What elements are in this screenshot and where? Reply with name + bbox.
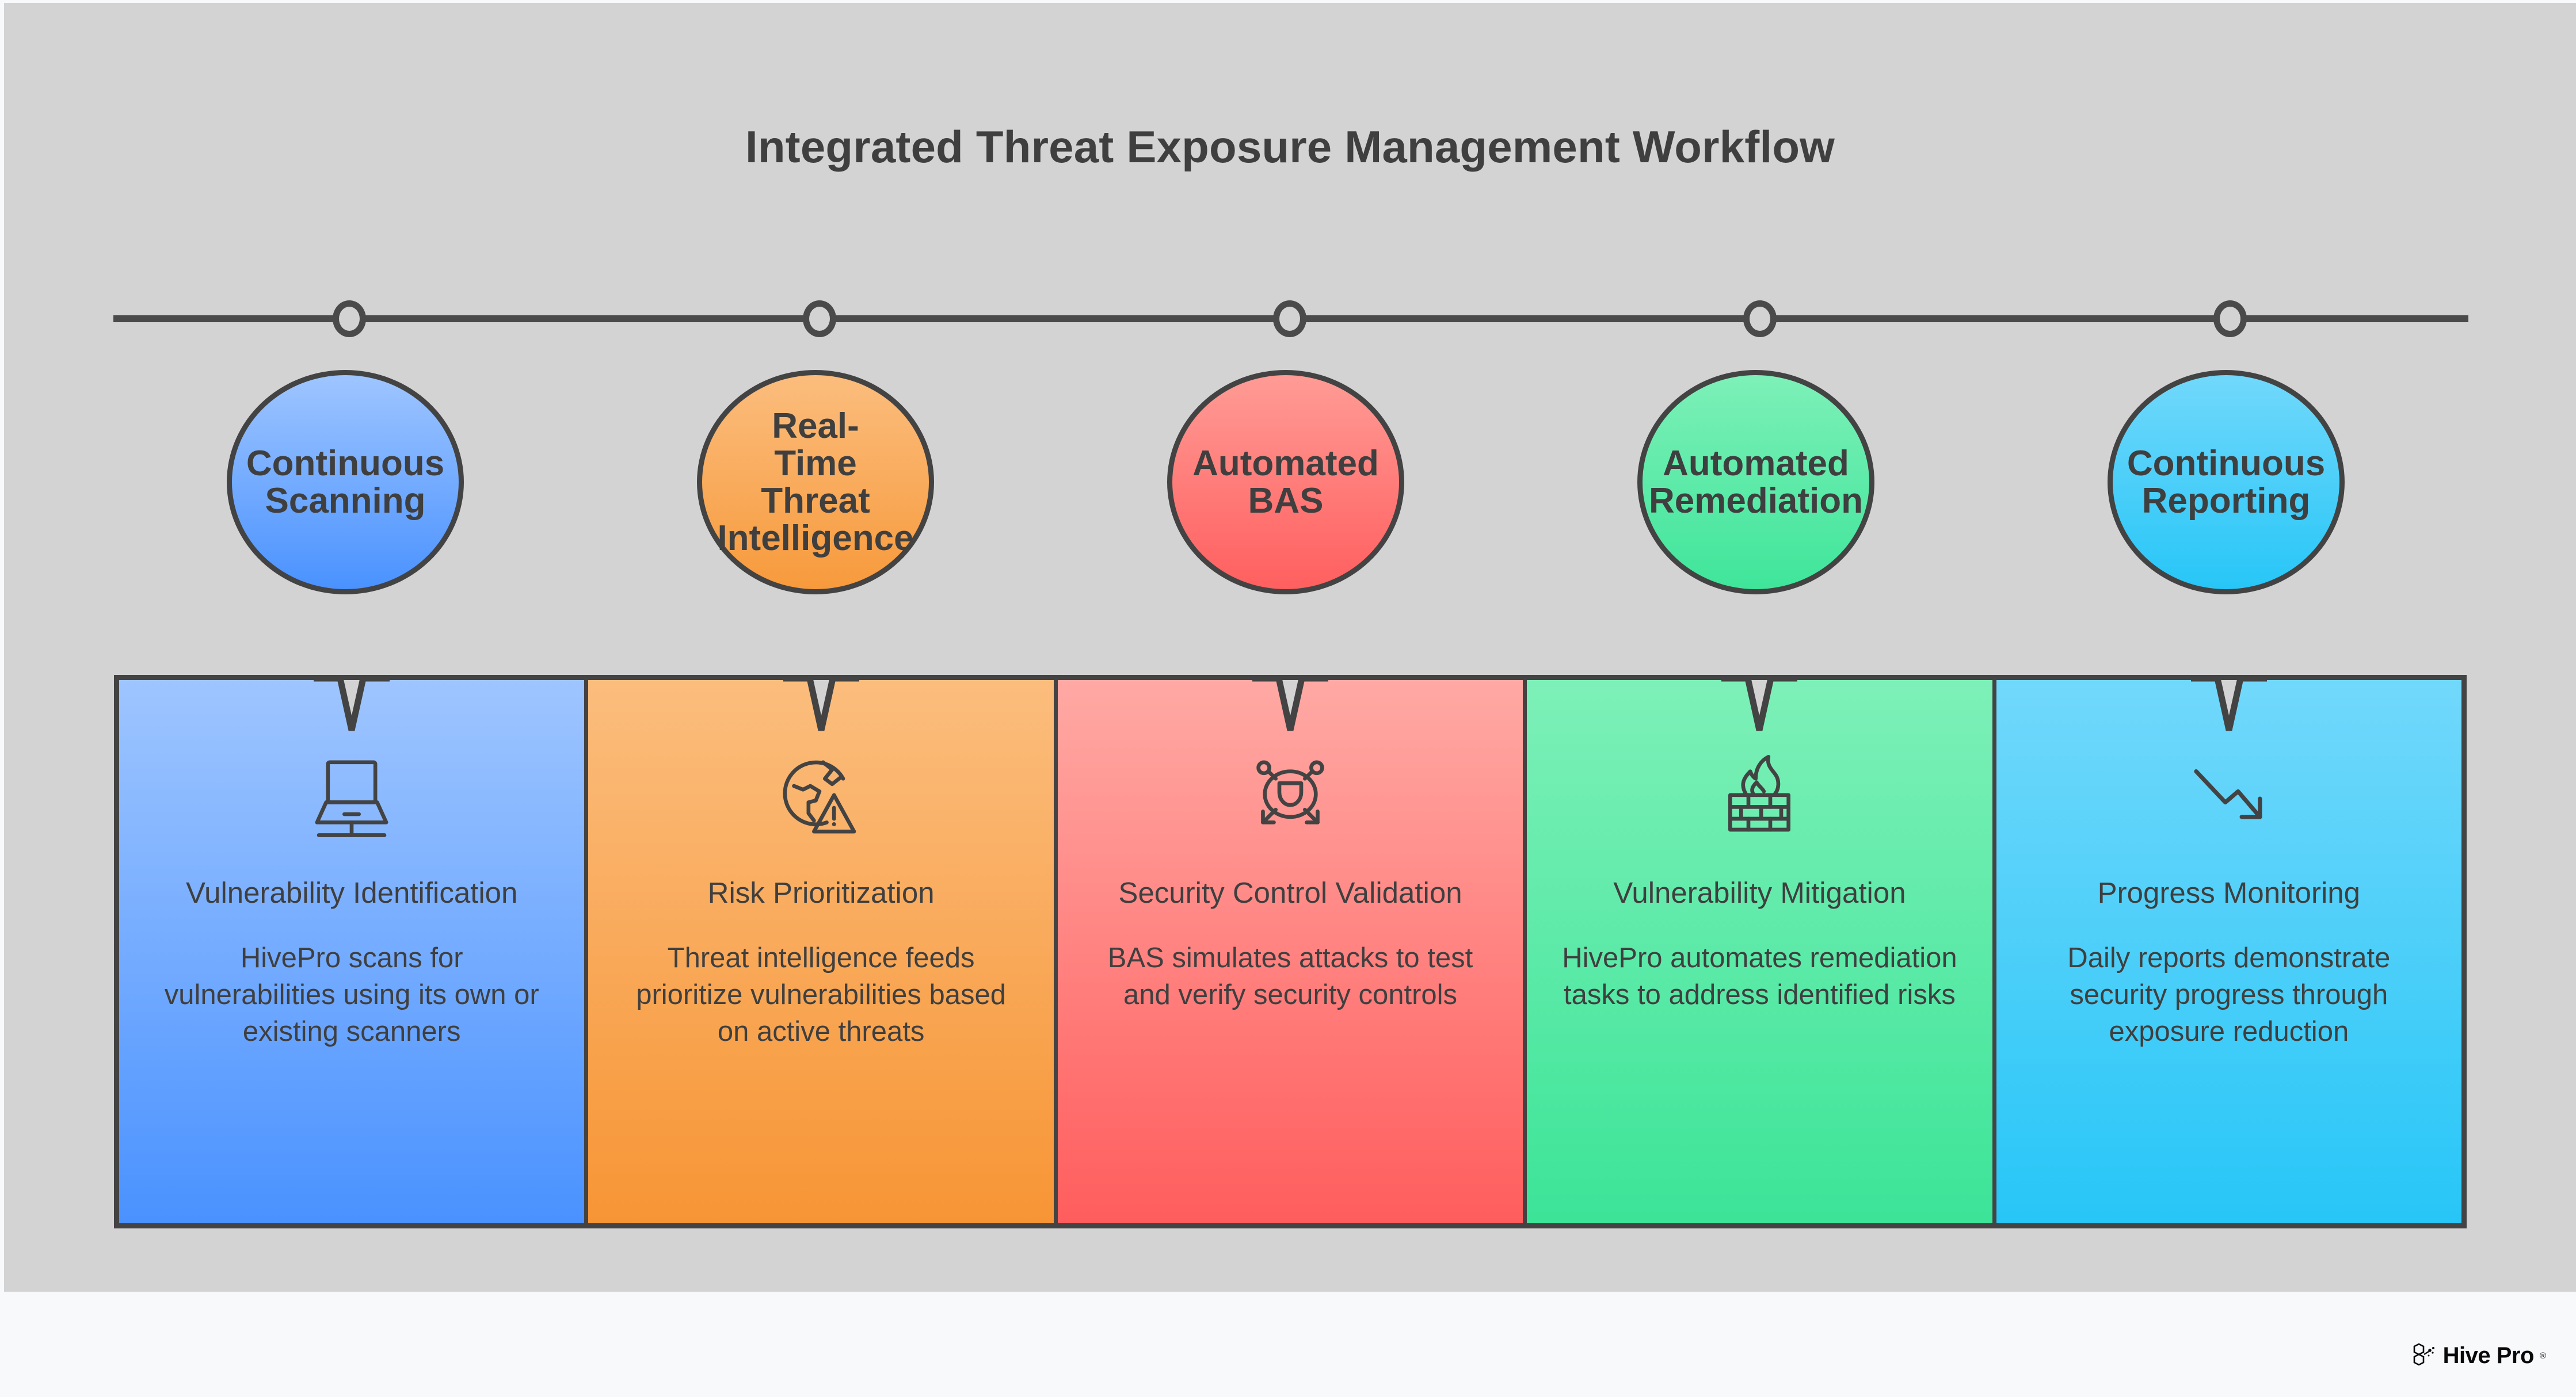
timeline-node-icon [333, 300, 366, 337]
workflow-node-label: Automated Remediation [1643, 445, 1869, 520]
workflow-node-1[interactable]: Continuous Scanning [227, 370, 464, 594]
timeline-axis [113, 315, 2468, 322]
canvas-panel: Integrated Threat Exposure Management Wo… [4, 3, 2576, 1292]
card-body-text: BAS simulates attacks to test and verify… [1090, 940, 1490, 1013]
card-heading: Progress Monitoring [2098, 876, 2360, 910]
card-body-text: HivePro automates remediation tasks to a… [1560, 940, 1960, 1013]
card-heading: Risk Prioritization [708, 876, 935, 910]
timeline-node-icon [1273, 300, 1306, 337]
card-body-text: Threat intelligence feeds prioritize vul… [621, 940, 1021, 1050]
brand-logo: Hive Pro ® [2411, 1341, 2546, 1371]
card-heading: Security Control Validation [1118, 876, 1462, 910]
shield-network-icon [1234, 742, 1347, 852]
stage-card-3[interactable]: Security Control ValidationBAS simulates… [1058, 680, 1527, 1223]
firewall-flame-icon [1703, 742, 1816, 852]
hive-hexagon-icon [2411, 1341, 2437, 1371]
stage-card-2[interactable]: Risk PrioritizationThreat intelligence f… [588, 680, 1057, 1223]
stage-card-1[interactable]: Vulnerability IdentificationHivePro scan… [119, 680, 588, 1223]
stage-card-4[interactable]: Vulnerability MitigationHivePro automate… [1527, 680, 1996, 1223]
globe-warning-icon [765, 742, 878, 852]
card-heading: Vulnerability Mitigation [1613, 876, 1906, 910]
trend-down-icon [2173, 742, 2285, 852]
timeline-node-icon [803, 300, 836, 337]
workflow-node-label: Real- Time Threat Intelligence [702, 407, 929, 557]
brand-registered-mark: ® [2540, 1351, 2546, 1361]
card-notch-icon [783, 675, 859, 735]
diagram-stage: Integrated Threat Exposure Management Wo… [0, 0, 2576, 1397]
card-body-text: Daily reports demonstrate security progr… [2029, 940, 2429, 1050]
timeline-node-icon [1743, 300, 1777, 337]
workflow-node-5[interactable]: Continuous Reporting [2108, 370, 2345, 594]
card-notch-icon [314, 675, 390, 735]
card-body-text: HivePro scans for vulnerabilities using … [152, 940, 552, 1050]
workflow-node-4[interactable]: Automated Remediation [1637, 370, 1874, 594]
stage-card-5[interactable]: Progress MonitoringDaily reports demonst… [1996, 680, 2461, 1223]
workflow-node-label: Automated BAS [1172, 445, 1399, 520]
card-heading: Vulnerability Identification [186, 876, 517, 910]
card-notch-icon [2191, 675, 2267, 735]
workflow-node-3[interactable]: Automated BAS [1167, 370, 1404, 594]
card-notch-icon [1721, 675, 1797, 735]
laptop-icon [295, 742, 408, 852]
workflow-node-label: Continuous Reporting [2113, 445, 2339, 520]
card-notch-icon [1252, 675, 1328, 735]
workflow-node-2[interactable]: Real- Time Threat Intelligence [697, 370, 934, 594]
timeline-node-icon [2213, 300, 2247, 337]
stage-cards-strip: Vulnerability IdentificationHivePro scan… [114, 675, 2467, 1228]
brand-logo-text: Hive Pro [2443, 1343, 2534, 1369]
workflow-node-label: Continuous Scanning [232, 445, 459, 520]
page-title: Integrated Threat Exposure Management Wo… [4, 121, 2576, 173]
